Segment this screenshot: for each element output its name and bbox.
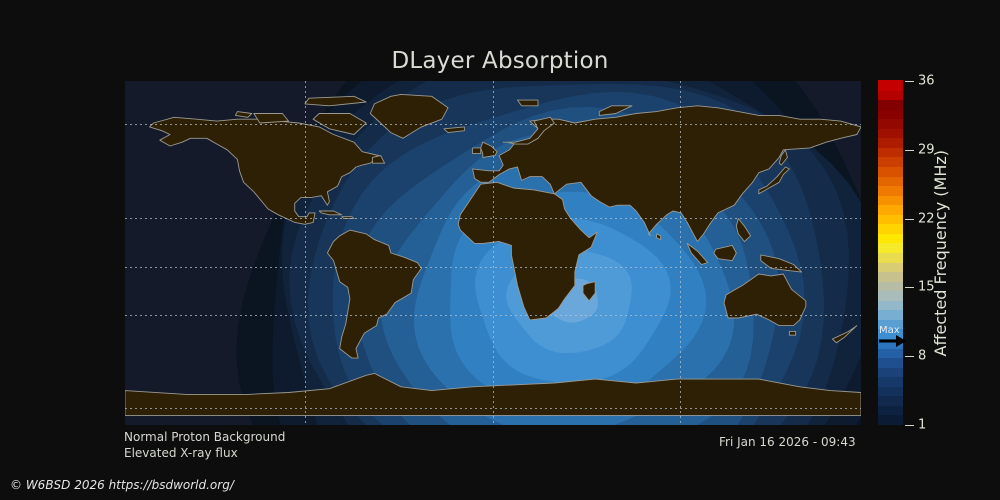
footer-credit: © W6BSD 2026 https://bsdworld.org/: [10, 478, 234, 492]
colorbar-tick: [905, 356, 914, 357]
colorbar-segment: [878, 300, 903, 310]
colorbar-tick: [905, 425, 914, 426]
colorbar-segment: [878, 100, 903, 110]
landmass-victoria: [254, 114, 289, 124]
colorbar-segment: [878, 243, 903, 253]
colorbar-segment: [878, 396, 903, 406]
colorbar-tick: [905, 287, 914, 288]
colorbar-segment: [878, 157, 903, 167]
colorbar-segment: [878, 147, 903, 157]
landmass-ireland: [473, 148, 481, 154]
colorbar-segment: [878, 348, 903, 358]
colorbar-segment: [878, 386, 903, 396]
colorbar-tick: [905, 150, 914, 151]
landmass-svalbard: [518, 100, 539, 106]
colorbar-segment: [878, 109, 903, 119]
colorbar-segment: [878, 367, 903, 377]
map-canvas: [125, 81, 861, 425]
status-captions: Normal Proton Background Elevated X-ray …: [124, 429, 285, 461]
colorbar-segment: [878, 405, 903, 415]
colorbar-segment: [878, 195, 903, 205]
colorbar-segment: [878, 262, 903, 272]
colorbar-tick: [905, 81, 914, 82]
colorbar-segment: [878, 138, 903, 148]
colorbar-gradient: [878, 81, 903, 425]
xray-status: Elevated X-ray flux: [124, 445, 285, 461]
colorbar[interactable]: 3629221581: [878, 81, 903, 425]
page-title: DLayer Absorption: [0, 48, 1000, 74]
timestamp: Fri Jan 16 2026 - 09:43: [719, 435, 856, 449]
colorbar-segment: [878, 415, 903, 425]
landmass-hispaniola: [342, 217, 354, 219]
colorbar-segment: [878, 119, 903, 129]
colorbar-segment: [878, 205, 903, 215]
colorbar-segment: [878, 329, 903, 339]
colorbar-segment: [878, 252, 903, 262]
colorbar-segment: [878, 377, 903, 387]
colorbar-tick: [905, 219, 914, 220]
colorbar-segment: [878, 224, 903, 234]
dlayer-absorption-page: DLayer Absorption 3629221581 Max: [0, 0, 1000, 500]
colorbar-axis-title-text: Affected Frequency (MHz): [931, 150, 950, 356]
world-map[interactable]: [125, 81, 861, 425]
colorbar-segment: [878, 310, 903, 320]
colorbar-segment: [878, 176, 903, 186]
colorbar-segment: [878, 338, 903, 348]
colorbar-segment: [878, 233, 903, 243]
colorbar-segment: [878, 166, 903, 176]
colorbar-segment: [878, 291, 903, 301]
colorbar-segment: [878, 319, 903, 329]
colorbar-segment: [878, 272, 903, 282]
colorbar-segment: [878, 186, 903, 196]
proton-status: Normal Proton Background: [124, 429, 285, 445]
colorbar-segment: [878, 214, 903, 224]
landmass-tasmania: [789, 331, 795, 335]
colorbar-segment: [878, 358, 903, 368]
colorbar-segment: [878, 281, 903, 291]
colorbar-segment: [878, 128, 903, 138]
colorbar-segment: [878, 90, 903, 100]
colorbar-segment: [878, 80, 903, 90]
colorbar-axis-title: Affected Frequency (MHz): [925, 81, 955, 425]
